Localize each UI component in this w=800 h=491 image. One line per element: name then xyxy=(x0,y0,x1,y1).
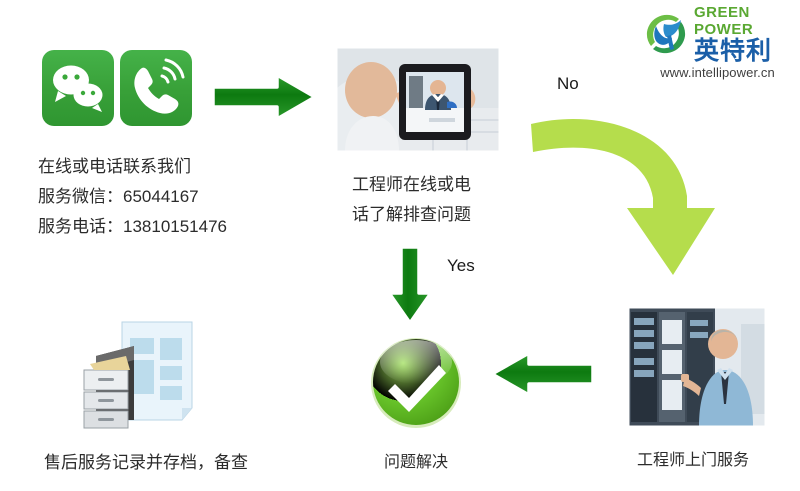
archive-caption: 售后服务记录并存档，备查 xyxy=(44,448,248,478)
flow-label-no: No xyxy=(557,74,579,94)
arrow-contact-to-engineer xyxy=(209,70,319,124)
video-call-scene xyxy=(337,48,499,151)
arrow-onsite-to-resolved xyxy=(487,349,597,399)
engineer-online-caption: 工程师在线或电 话了解排查问题 xyxy=(352,170,471,230)
phone-icon[interactable] xyxy=(120,50,192,126)
file-cabinet-document-icon xyxy=(60,312,208,430)
contact-caption: 在线或电话联系我们 服务微信：65044167 服务电话：13810151476 xyxy=(38,152,227,242)
green-check-circle-icon xyxy=(368,334,464,430)
engineer-online-line-2: 话了解排查问题 xyxy=(352,200,471,230)
resolved-caption: 问题解决 xyxy=(384,448,448,478)
wechat-icon[interactable] xyxy=(42,50,114,126)
arrow-right-icon xyxy=(209,70,319,124)
flow-label-yes: Yes xyxy=(447,256,475,276)
logo-row: GREEN POWER 英特利 xyxy=(640,8,795,60)
archive-glyph xyxy=(60,312,208,430)
engineer-online-line-1: 工程师在线或电 xyxy=(352,170,471,200)
check-circle-glyph xyxy=(368,334,464,430)
contact-line-2: 服务微信：65044167 xyxy=(38,182,227,212)
logo-name-en: GREEN POWER xyxy=(694,4,795,38)
phone-handset-glyph xyxy=(120,50,192,126)
arrow-left-icon xyxy=(487,349,597,399)
brand-logo-block: GREEN POWER 英特利 www.intellipower.cn xyxy=(640,8,795,86)
leaf-bird-swoosh-logo-icon xyxy=(640,9,692,59)
video-call-tablet-photo xyxy=(337,48,499,151)
onsite-service-scene xyxy=(629,308,765,426)
arrow-engineer-to-resolved xyxy=(381,243,439,327)
engineer-server-rack-photo xyxy=(629,308,765,426)
arrow-down-icon xyxy=(381,243,439,327)
wechat-bubbles-glyph xyxy=(42,50,114,126)
onsite-caption: 工程师上门服务 xyxy=(637,446,749,476)
flowchart-canvas: GREEN POWER 英特利 www.intellipower.cn xyxy=(0,0,800,491)
contact-line-3: 服务电话：13810151476 xyxy=(38,212,227,242)
contact-line-1: 在线或电话联系我们 xyxy=(38,152,227,182)
logo-name-cn: 英特利 xyxy=(694,38,795,65)
arrow-engineer-to-onsite xyxy=(527,100,717,305)
brand-website-url[interactable]: www.intellipower.cn xyxy=(640,65,795,80)
logo-text: GREEN POWER 英特利 xyxy=(694,4,795,65)
curved-arrow-down-right-icon xyxy=(527,100,717,305)
